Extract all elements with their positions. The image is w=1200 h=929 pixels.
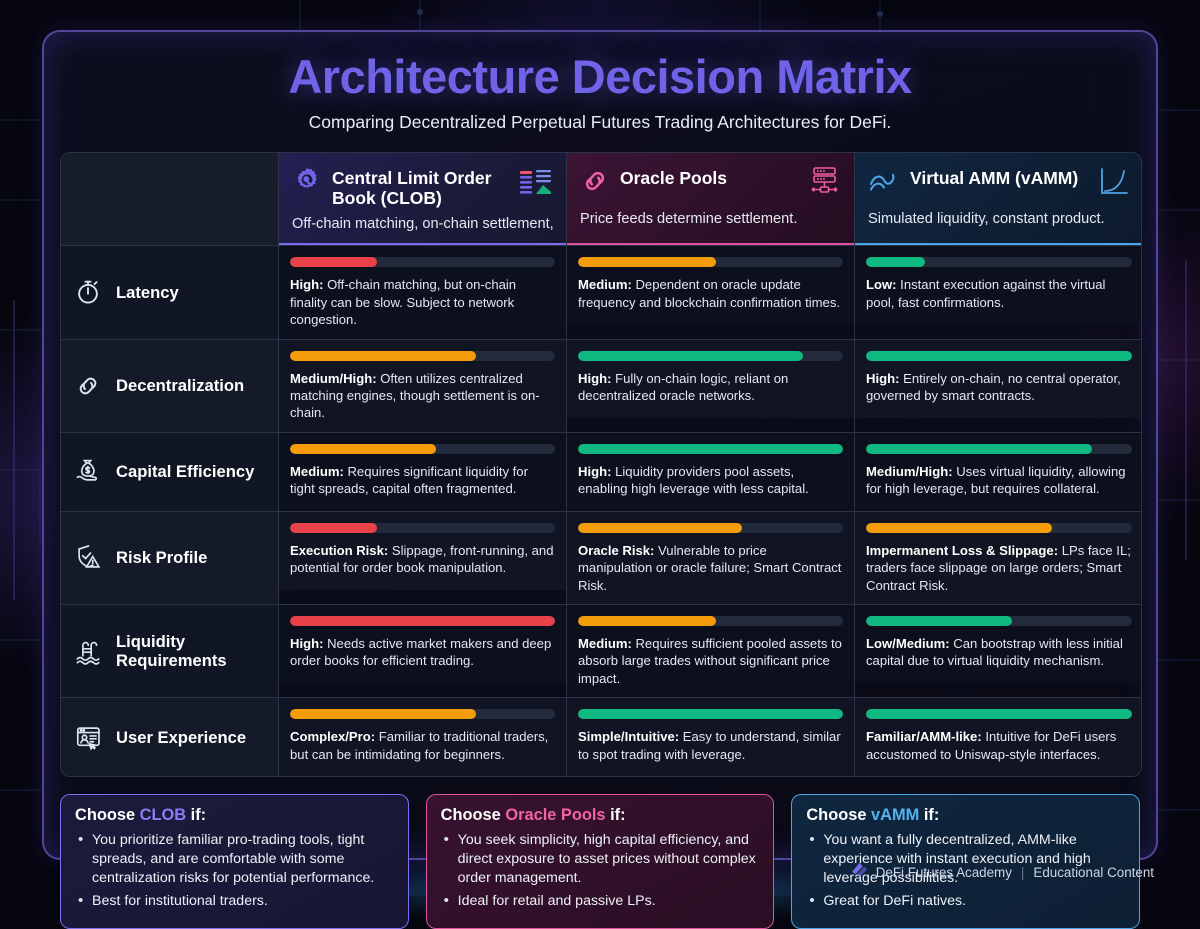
rating-bar-fill [866,709,1132,719]
cell-risk-vamm: Impermanent Loss & Slippage: LPs face IL… [855,512,1142,604]
cell-latency-clob: High: Off-chain matching, but on-chain f… [279,246,567,338]
chain-link-icon [580,166,610,201]
cell-ux-oracle: Simple/Intuitive: Easy to understand, si… [567,698,855,776]
rating-bar-fill [290,257,377,267]
list-item: Great for DeFi natives. [806,892,1125,911]
cell-capital-oracle: High: Liquidity providers pool assets, e… [567,433,855,511]
pool-ladder-icon [73,636,103,666]
column-description: Simulated liquidity, constant product. [868,211,1130,227]
row-label-risk-profile: Risk Profile [61,512,279,604]
cell-capital-clob: Medium: Requires significant liquidity f… [279,433,567,511]
cell-ux-clob: Complex/Pro: Familiar to traditional tra… [279,698,567,776]
rating-bar [290,444,555,454]
rating-bar [290,616,555,626]
cell-latency-vamm: Low: Instant execution against the virtu… [855,246,1142,338]
cell-rating: Medium/High: [866,464,953,479]
column-description: Off-chain matching, on-chain settlement, [292,216,553,232]
matrix-row-decentralization: Decentralization Medium/High: Often util… [61,340,1141,433]
cell-text: Off-chain matching, but on-chain finalit… [290,277,516,327]
recommendation-heading: Choose Oracle Pools if: [441,806,760,825]
rating-bar-fill [290,616,555,626]
rating-bar [578,257,843,267]
row-label-text: Capital Efficiency [116,462,254,481]
recommendation-accent: Oracle Pools [505,806,605,824]
matrix-row-user-experience: User Experience Complex/Pro: Familiar to… [61,698,1141,776]
cell-capital-vamm: Medium/High: Uses virtual liquidity, all… [855,433,1142,511]
rating-bar-fill [866,616,1012,626]
rating-bar [290,351,555,361]
gear-settings-icon [292,166,322,201]
cell-rating: Execution Risk: [290,543,388,558]
matrix-row-liquidity-requirements: Liquidity Requirements High: Needs activ… [61,605,1141,698]
rating-bar-fill [290,351,476,361]
rating-bar [866,444,1132,454]
cell-rating: Familiar/AMM-like: [866,729,982,744]
cell-text: Instant execution against the virtual po… [866,277,1105,309]
recommendation-heading: Choose vAMM if: [806,806,1125,825]
cell-ux-vamm: Familiar/AMM-like: Intuitive for DeFi us… [855,698,1142,776]
cell-rating: Medium: [578,636,632,651]
cell-decentralization-vamm: High: Entirely on-chain, no central oper… [855,340,1142,432]
infographic-frame: Architecture Decision Matrix Comparing D… [42,30,1158,860]
row-label-decentralization: Decentralization [61,340,279,432]
rating-bar-fill [578,523,742,533]
footer-tagline: Educational Content [1033,865,1154,880]
cell-liquidity-oracle: Medium: Requires sufficient pooled asset… [567,605,855,697]
column-header-clob: Central Limit Order Book (CLOB) [279,153,567,246]
cell-text: Liquidity providers pool assets, enablin… [578,464,809,496]
column-title: Virtual AMM (vAMM) [910,166,1088,188]
list-item: You prioritize familiar pro-trading tool… [75,831,394,887]
rating-bar-fill [866,523,1052,533]
rating-bar [578,523,843,533]
corner-cell [61,153,279,246]
column-header-vamm: Virtual AMM (vAMM) Simulated liquidity, … [855,153,1142,246]
column-title: Central Limit Order Book (CLOB) [332,166,509,209]
wave-icon [868,166,900,201]
cell-rating: High: [578,464,611,479]
money-bag-hand-icon [73,457,103,487]
cell-rating: Oracle Risk: [578,543,654,558]
cell-rating: Medium: [578,277,632,292]
stopwatch-icon [73,277,103,307]
row-label-text: Liquidity Requirements [116,632,266,670]
cell-risk-oracle: Oracle Risk: Vulnerable to price manipul… [567,512,855,604]
cell-liquidity-vamm: Low/Medium: Can bootstrap with less init… [855,605,1142,697]
matrix-row-latency: Latency High: Off-chain matching, but on… [61,246,1141,339]
rating-bar [866,709,1132,719]
row-label-latency: Latency [61,246,279,338]
ui-cursor-icon [73,722,103,752]
footer-separator: | [1021,865,1024,880]
column-description: Price feeds determine settlement. [580,211,841,227]
chain-link-icon [73,371,103,401]
recommendation-clob: Choose CLOB if: You prioritize familiar … [60,794,409,929]
cell-rating: High: [290,277,323,292]
rating-bar [866,616,1132,626]
row-label-user-experience: User Experience [61,698,279,776]
row-label-text: Latency [116,283,179,302]
rating-bar [290,257,555,267]
cell-rating: Medium/High: [290,371,377,386]
rating-bar [290,709,555,719]
matrix-header-row: Central Limit Order Book (CLOB) [61,153,1141,247]
rating-bar-fill [290,444,436,454]
cell-rating: Impermanent Loss & Slippage: [866,543,1058,558]
rating-bar-fill [578,257,716,267]
rating-bar [578,444,843,454]
list-item: Ideal for retail and passive LPs. [441,892,760,911]
rating-bar [866,523,1132,533]
rating-bar-fill [866,257,925,267]
matrix-row-risk-profile: Risk Profile Execution Risk: Slippage, f… [61,512,1141,605]
cell-rating: High: [578,371,611,386]
matrix-row-capital-efficiency: Capital Efficiency Medium: Requires sign… [61,433,1141,512]
recommendation-heading: Choose CLOB if: [75,806,394,825]
recommendation-accent: CLOB [140,806,186,824]
rating-bar-fill [578,351,803,361]
rating-bar [866,351,1132,361]
rating-bar [866,257,1132,267]
row-label-liquidity-requirements: Liquidity Requirements [61,605,279,697]
rating-bar [578,709,843,719]
cell-rating: High: [866,371,899,386]
order-book-chart-icon [519,166,553,203]
rating-bar [578,616,843,626]
row-label-text: Risk Profile [116,548,207,567]
cell-text: Needs active market makers and deep orde… [290,636,551,668]
cell-rating: Low: [866,277,897,292]
server-network-icon [807,166,841,203]
cell-rating: Simple/Intuitive: [578,729,679,744]
cell-text: Entirely on-chain, no central operator, … [866,371,1121,403]
rating-bar-fill [290,523,377,533]
footer: DeFi Futures Academy | Educational Conte… [850,861,1154,883]
column-header-oracle: Oracle Pools [567,153,855,246]
cell-decentralization-oracle: High: Fully on-chain logic, reliant on d… [567,340,855,432]
page-subtitle: Comparing Decentralized Perpetual Future… [60,112,1140,133]
rating-bar-fill [866,351,1132,361]
list-item: You seek simplicity, high capital effici… [441,831,760,887]
rating-bar [290,523,555,533]
academy-logo-icon [850,861,869,883]
row-label-capital-efficiency: Capital Efficiency [61,433,279,511]
rating-bar-fill [578,709,843,719]
curve-chart-icon [1098,166,1130,203]
cell-decentralization-clob: Medium/High: Often utilizes centralized … [279,340,567,432]
page-title: Architecture Decision Matrix [60,52,1140,103]
row-label-text: User Experience [116,728,246,747]
rating-bar-fill [578,616,716,626]
rating-bar-fill [866,444,1092,454]
shield-warning-icon [73,543,103,573]
cell-rating: High: [290,636,323,651]
rating-bar-fill [290,709,476,719]
recommendation-accent: vAMM [871,806,919,824]
cell-liquidity-clob: High: Needs active market makers and dee… [279,605,567,697]
recommendation-oracle: Choose Oracle Pools if: You seek simplic… [426,794,775,929]
footer-brand: DeFi Futures Academy [876,865,1012,880]
list-item: Best for institutional traders. [75,892,394,911]
cell-rating: Low/Medium: [866,636,950,651]
cell-rating: Medium: [290,464,344,479]
column-title: Oracle Pools [620,166,797,188]
rating-bar [578,351,843,361]
cell-rating: Complex/Pro: [290,729,375,744]
cell-risk-clob: Execution Risk: Slippage, front-running,… [279,512,567,604]
rating-bar-fill [578,444,843,454]
decision-matrix-table: Central Limit Order Book (CLOB) [60,152,1142,777]
row-label-text: Decentralization [116,376,244,395]
cell-latency-oracle: Medium: Dependent on oracle update frequ… [567,246,855,338]
